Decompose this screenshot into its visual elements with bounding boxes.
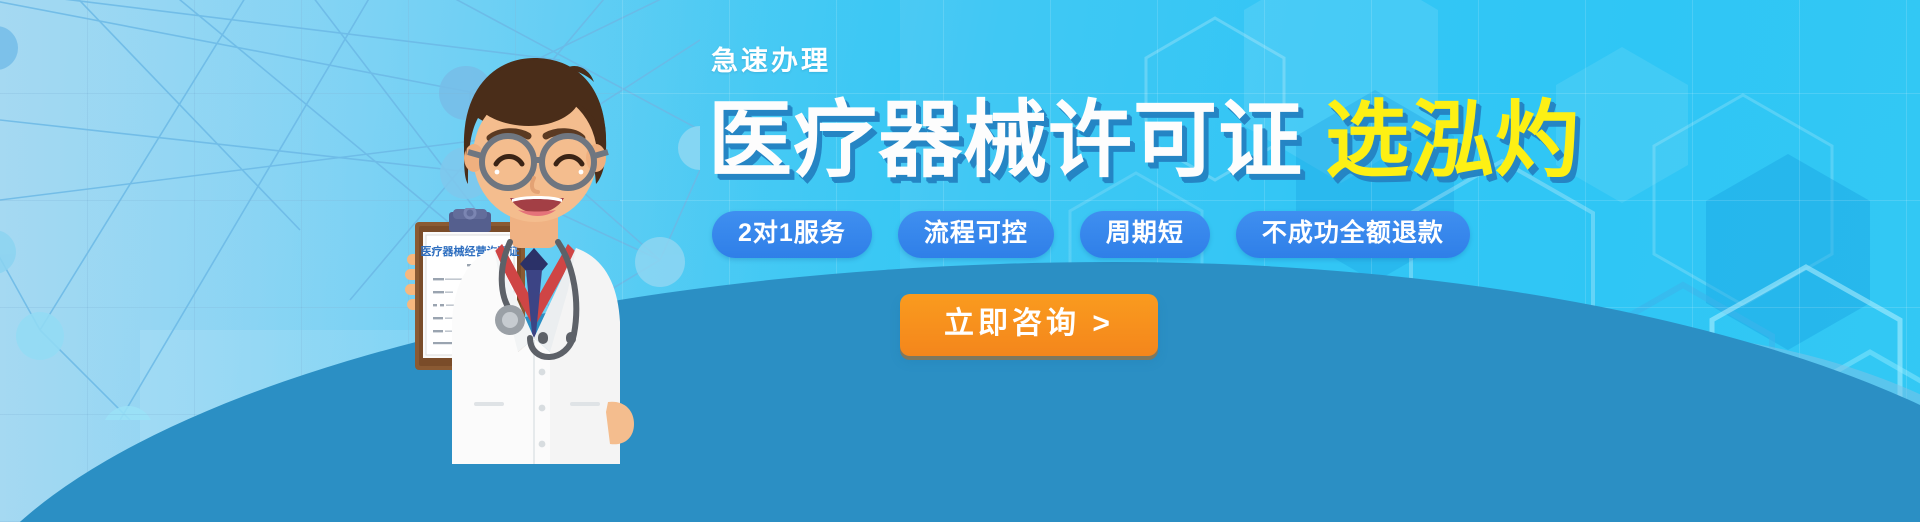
feature-pill-list: 2对1服务 流程可控 周期短 不成功全额退款: [712, 211, 1758, 258]
feature-pill[interactable]: 2对1服务: [712, 211, 872, 258]
feature-pill[interactable]: 周期短: [1080, 211, 1210, 258]
cta-container: 立即咨询 >: [900, 294, 1758, 356]
feature-pill[interactable]: 流程可控: [898, 211, 1054, 258]
consult-now-button[interactable]: 立即咨询 >: [900, 294, 1158, 356]
doctor-illustration: [418, 52, 648, 492]
page-title: 医疗器械许可证 选泓灼: [708, 89, 1758, 181]
headline-main-text: 医疗器械许可证: [708, 100, 1303, 181]
headline-accent-text: 选泓灼: [1325, 100, 1580, 181]
banner-content: 急速办理 医疗器械许可证 选泓灼 2对1服务 流程可控 周期短 不成功全额退款 …: [708, 48, 1758, 356]
feature-pill[interactable]: 不成功全额退款: [1236, 211, 1470, 258]
banner-eyebrow: 急速办理: [711, 48, 1758, 75]
hero-banner: 医疗器械经营许可证: [0, 0, 1920, 522]
